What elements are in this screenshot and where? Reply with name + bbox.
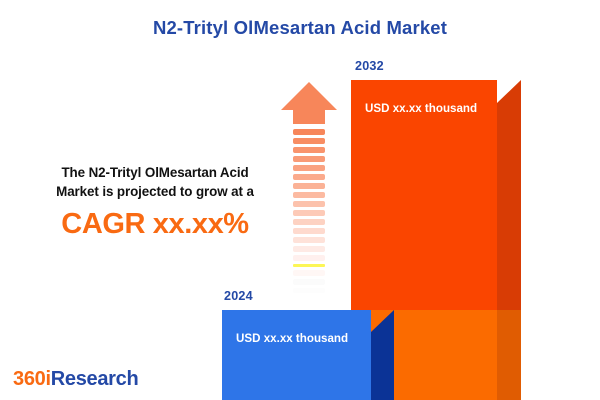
bar-2024[interactable]: USD xx.xx thousand (222, 310, 394, 400)
bar-2024-side-face (371, 310, 394, 400)
cagr-annotation: The N2-Trityl OlMesartan Acid Market is … (24, 163, 286, 241)
bar-label-2032: 2032 (355, 59, 384, 73)
cagr-description-line-2: Market is projected to grow at a (24, 182, 286, 201)
bar-2032-side-face-lower (497, 310, 521, 400)
logo-text-360: 360 (13, 368, 45, 390)
brand-logo[interactable]: 360iResearch (13, 368, 138, 391)
bar-2024-front-face (222, 310, 371, 400)
bar-label-2024: 2024 (224, 289, 253, 303)
cagr-value: CAGR xx.xx% (24, 208, 286, 241)
bar-2032-value-label: USD xx.xx thousand (365, 102, 477, 115)
cagr-description-line-1: The N2-Trityl OlMesartan Acid (24, 163, 286, 182)
infographic-canvas: N2-Trityl OlMesartan Acid Market (0, 0, 600, 400)
page-title: N2-Trityl OlMesartan Acid Market (0, 17, 600, 39)
bar-2024-value-label: USD xx.xx thousand (236, 332, 348, 345)
growth-arrow-icon (278, 78, 340, 294)
logo-text-research: Research (51, 368, 139, 390)
